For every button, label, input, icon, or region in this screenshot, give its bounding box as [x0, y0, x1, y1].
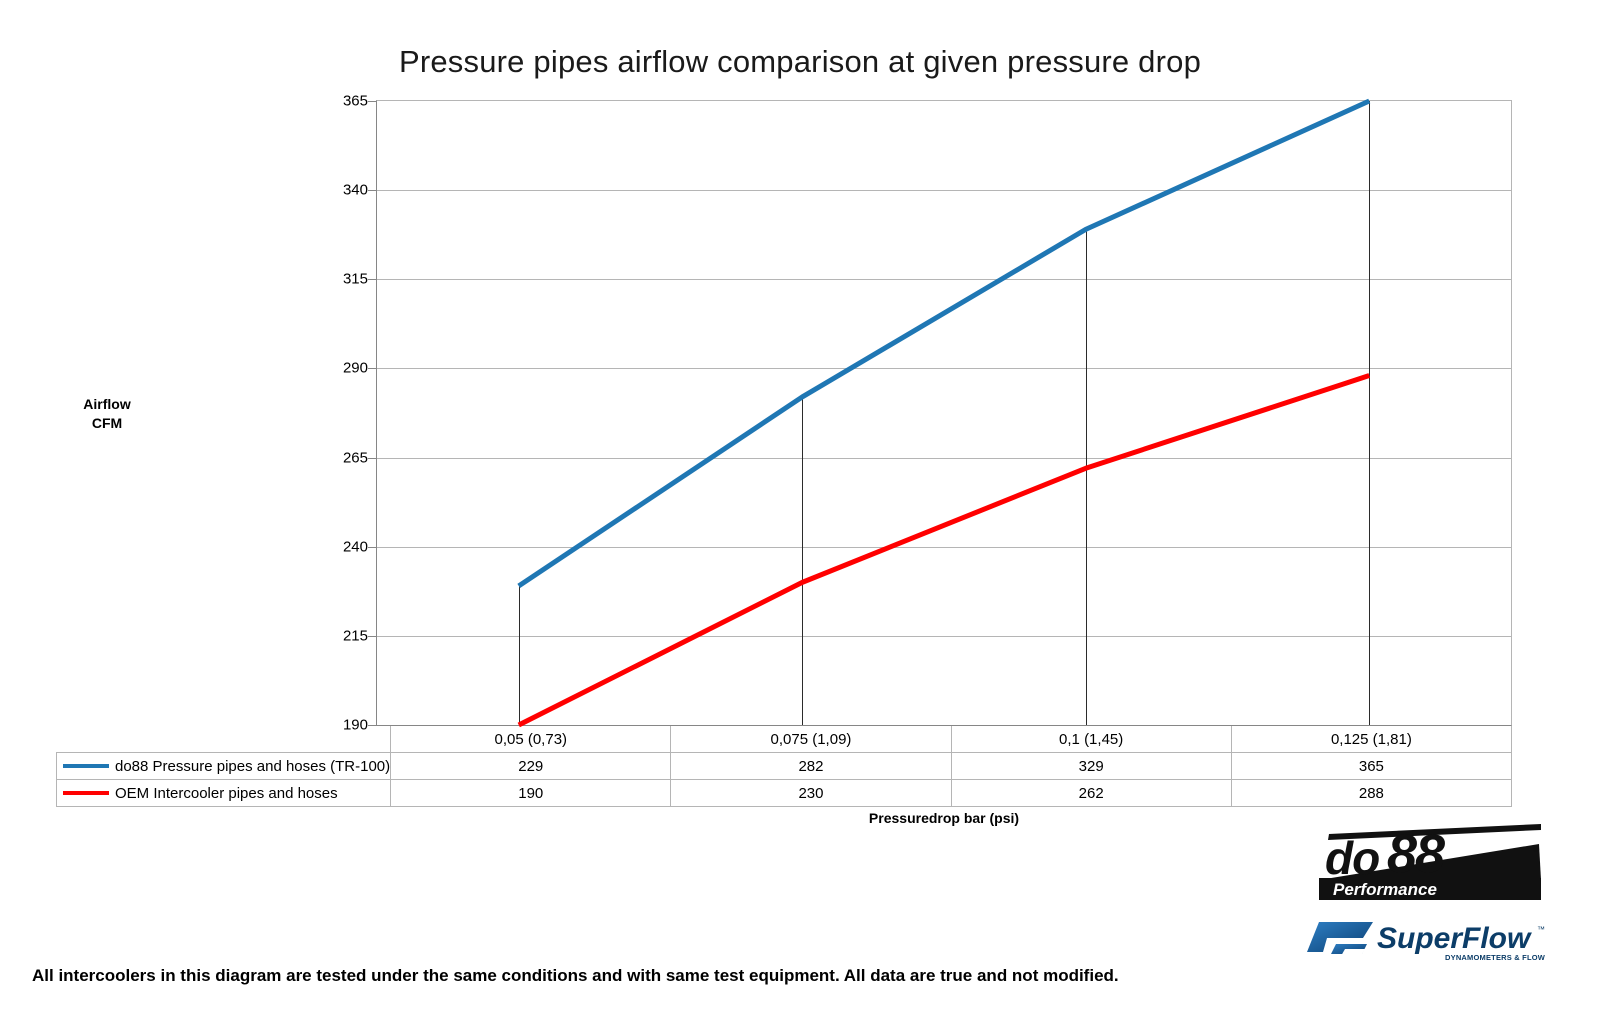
y-axis-tick-label: 315 [343, 271, 368, 288]
y-axis-tick [368, 636, 376, 637]
y-axis-title-line1: Airflow [52, 395, 162, 414]
do88-logo-graphic: do 88 Performance ® [1311, 818, 1541, 902]
y-axis-tick [368, 190, 376, 191]
y-axis-tick-label: 365 [343, 93, 368, 110]
data-table: 0,05 (0,73)0,075 (1,09)0,1 (1,45)0,125 (… [56, 726, 1512, 807]
superflow-logo-tagline: DYNAMOMETERS & FLOWBENCHES [1445, 953, 1545, 962]
y-axis-tick-labels: 190215240265290315340365 [316, 100, 368, 726]
table-value-cell: 262 [951, 780, 1231, 807]
footnote-text: All intercoolers in this diagram are tes… [32, 966, 1119, 986]
y-axis-tick [368, 101, 376, 102]
series-line-2 [519, 376, 1370, 725]
y-axis-tick [368, 458, 376, 459]
x-axis-category-label: 0,125 (1,81) [1231, 726, 1511, 753]
legend-entry-2[interactable]: OEM Intercooler pipes and hoses [57, 780, 391, 807]
x-axis-category-label: 0,075 (1,09) [671, 726, 951, 753]
y-axis-title: Airflow CFM [52, 395, 162, 433]
do88-logo-tagline: Performance [1333, 880, 1437, 899]
legend-label: OEM Intercooler pipes and hoses [115, 785, 338, 802]
legend-swatch-icon [63, 791, 109, 795]
table-value-cell: 329 [951, 753, 1231, 780]
y-axis-tick-label: 265 [343, 449, 368, 466]
chart-title: Pressure pipes airflow comparison at giv… [0, 44, 1600, 80]
do88-logo: do 88 Performance ® [1311, 818, 1541, 902]
superflow-logo: SuperFlow ™ DYNAMOMETERS & FLOWBENCHES [1305, 908, 1545, 968]
svg-text:do: do [1325, 832, 1379, 884]
svg-text:®: ® [1533, 845, 1539, 854]
table-value-cell: 230 [671, 780, 951, 807]
table-value-cell: 282 [671, 753, 951, 780]
table-value-cell: 288 [1231, 780, 1511, 807]
legend-swatch-icon [63, 764, 109, 768]
svg-text:™: ™ [1537, 925, 1545, 934]
superflow-logo-name: SuperFlow [1377, 922, 1532, 955]
y-axis-tick [368, 279, 376, 280]
y-axis-tick [368, 368, 376, 369]
svg-text:88: 88 [1387, 824, 1445, 884]
table-row-categories: 0,05 (0,73)0,075 (1,09)0,1 (1,45)0,125 (… [57, 726, 1512, 753]
table-corner-cell [57, 726, 391, 753]
table-value-cell: 365 [1231, 753, 1511, 780]
y-axis-tick [368, 547, 376, 548]
table-value-cell: 190 [391, 780, 671, 807]
y-axis-tick-label: 215 [343, 627, 368, 644]
x-axis-category-label: 0,05 (0,73) [391, 726, 671, 753]
y-axis-ticks [368, 100, 376, 726]
chart-container: Pressure pipes airflow comparison at giv… [0, 0, 1600, 1028]
y-axis-tick-label: 290 [343, 360, 368, 377]
series-layer [377, 101, 1511, 725]
x-axis-category-label: 0,1 (1,45) [951, 726, 1231, 753]
table-row: OEM Intercooler pipes and hoses190230262… [57, 780, 1512, 807]
legend-entry-1[interactable]: do88 Pressure pipes and hoses (TR-100) [57, 753, 391, 780]
plot-area [376, 100, 1512, 726]
table-row: do88 Pressure pipes and hoses (TR-100)22… [57, 753, 1512, 780]
superflow-logo-graphic: SuperFlow ™ DYNAMOMETERS & FLOWBENCHES [1305, 908, 1545, 968]
y-axis-tick-label: 240 [343, 538, 368, 555]
y-axis-title-line2: CFM [52, 414, 162, 433]
table-value-cell: 229 [391, 753, 671, 780]
y-axis-tick-label: 340 [343, 182, 368, 199]
legend-label: do88 Pressure pipes and hoses (TR-100) [115, 758, 390, 775]
series-line-1 [519, 101, 1370, 586]
